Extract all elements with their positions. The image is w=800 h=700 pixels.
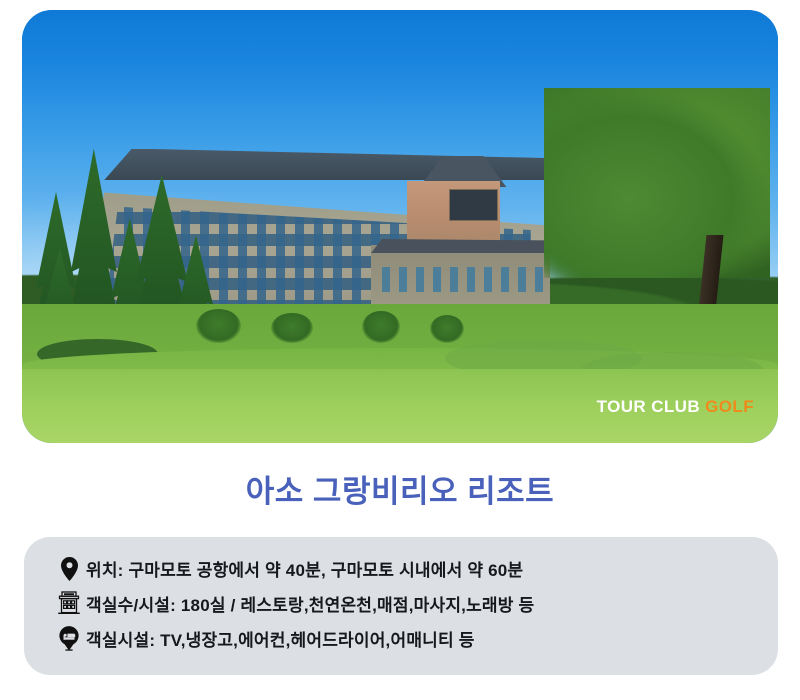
info-row-location: 위치: 구마모토 공항에서 약 40분, 구마모토 시내에서 약 60분 [24, 551, 778, 586]
tower-window [449, 189, 498, 220]
info-row-text: 위치: 구마모토 공항에서 약 40분, 구마모토 시내에서 약 60분 [86, 556, 523, 581]
info-row-rooms-facilities: 객실수/시설: 180실 / 레스토랑,천연온천,매점,마사지,노래방 등 [24, 586, 778, 621]
map-pin-icon [52, 554, 86, 584]
bed-pin-icon [52, 624, 86, 654]
info-row-room-amenities: 객실시설: TV,냉장고,에어컨,헤어드라이어,어매니티 등 [24, 621, 778, 656]
info-row-text: 객실수/시설: 180실 / 레스토랑,천연온천,매점,마사지,노래방 등 [86, 591, 534, 616]
resort-info-box: 위치: 구마모토 공항에서 약 40분, 구마모토 시내에서 약 60분 객실수… [24, 537, 778, 675]
hotel-annex [371, 245, 550, 308]
watermark-primary: TOUR CLUB [597, 397, 700, 416]
annex-window-row [382, 267, 543, 292]
resort-photo-card: TOUR CLUB GOLF [22, 10, 778, 443]
deciduous-tree-canopy [544, 88, 771, 279]
info-row-text: 객실시설: TV,냉장고,에어컨,헤어드라이어,어매니티 등 [86, 626, 475, 651]
annex-roof [371, 239, 550, 253]
page-title: 아소 그랑비리오 리조트 [0, 466, 800, 511]
watermark: TOUR CLUB GOLF [597, 397, 754, 417]
hotel-building-icon [52, 589, 86, 619]
watermark-accent: GOLF [705, 397, 754, 416]
